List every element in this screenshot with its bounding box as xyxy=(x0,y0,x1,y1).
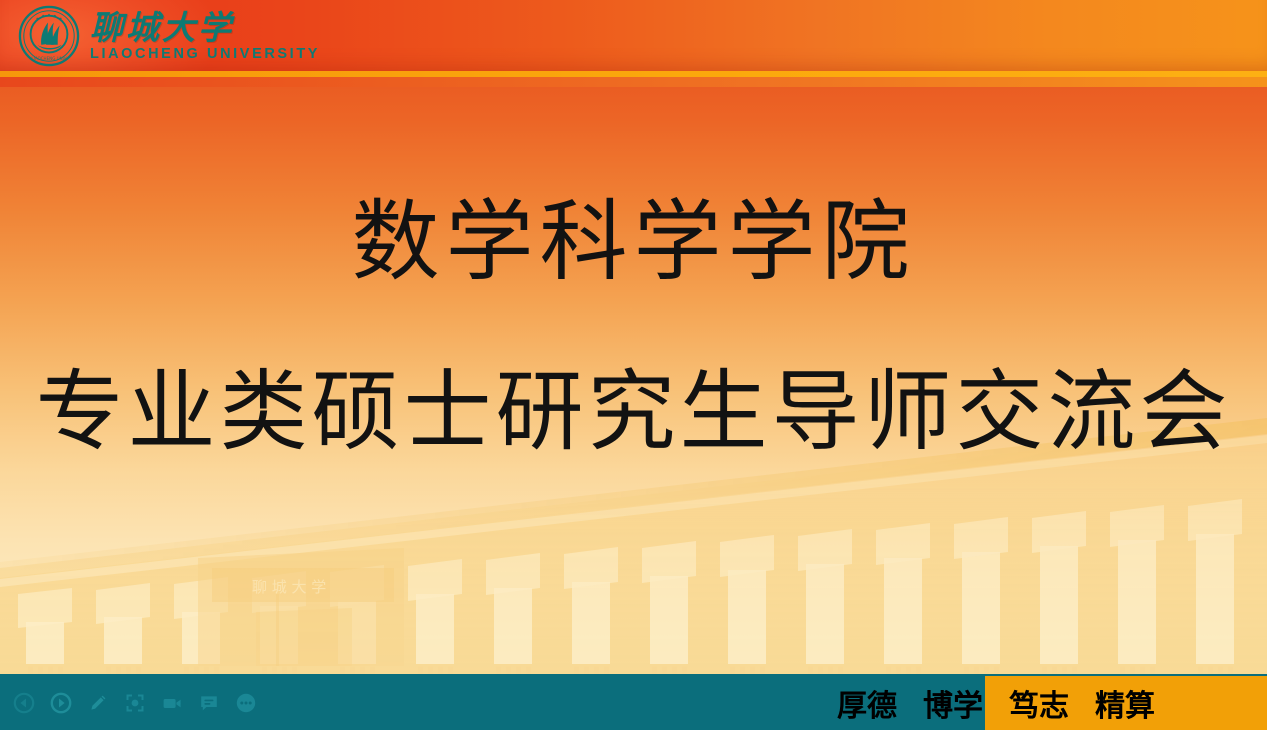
logo-chinese-name: 聊城大学 xyxy=(90,11,320,44)
slide-title: 数学科学学院 专业类硕士研究生导师交流会 xyxy=(0,196,1267,459)
title-line-1: 数学科学学院 xyxy=(0,196,1267,288)
university-logo: LIAOCHENG UNIV 聊城大学 LIAOCHENG UNIVERSITY xyxy=(18,4,320,68)
title-line-2: 专业类硕士研究生导师交流会 xyxy=(0,366,1267,458)
laser-pointer-icon xyxy=(124,692,146,714)
logo-english-name: LIAOCHENG UNIVERSITY xyxy=(90,47,320,62)
header-underline-band xyxy=(0,77,1267,87)
subtitles-button[interactable] xyxy=(195,689,223,717)
laser-pointer-button[interactable] xyxy=(121,689,149,717)
svg-text:聊 城 大 学: 聊 城 大 学 xyxy=(252,578,326,596)
svg-text:LIAOCHENG UNIV: LIAOCHENG UNIV xyxy=(31,56,66,61)
logo-wordmark: 聊城大学 LIAOCHENG UNIVERSITY xyxy=(90,11,320,62)
liaocheng-university-seal-icon: LIAOCHENG UNIV xyxy=(18,5,80,67)
pen-tool-button[interactable] xyxy=(84,689,112,717)
motto-word-2: 博学 xyxy=(923,681,983,725)
ellipsis-circle-icon xyxy=(235,692,257,714)
motto-word-1: 厚德 xyxy=(837,681,897,725)
more-options-button[interactable] xyxy=(232,689,260,717)
presentation-controls xyxy=(0,676,260,730)
chevron-right-circle-icon xyxy=(50,692,72,714)
presentation-slide: 聊 城 大 学 LIAOC xyxy=(0,0,1267,730)
video-camera-icon xyxy=(161,692,183,714)
previous-slide-button[interactable] xyxy=(10,689,38,717)
motto-word-4: 精算 xyxy=(1095,681,1155,725)
pen-icon xyxy=(87,692,109,714)
university-motto: 厚德 博学 笃志 精算 xyxy=(837,676,1155,730)
chevron-left-circle-icon xyxy=(13,692,35,714)
video-button[interactable] xyxy=(158,689,186,717)
next-slide-button[interactable] xyxy=(47,689,75,717)
presentation-control-bar: 厚德 博学 笃志 精算 xyxy=(0,676,1267,730)
chat-bubble-icon xyxy=(198,692,220,714)
motto-word-3: 笃志 xyxy=(1009,681,1069,725)
